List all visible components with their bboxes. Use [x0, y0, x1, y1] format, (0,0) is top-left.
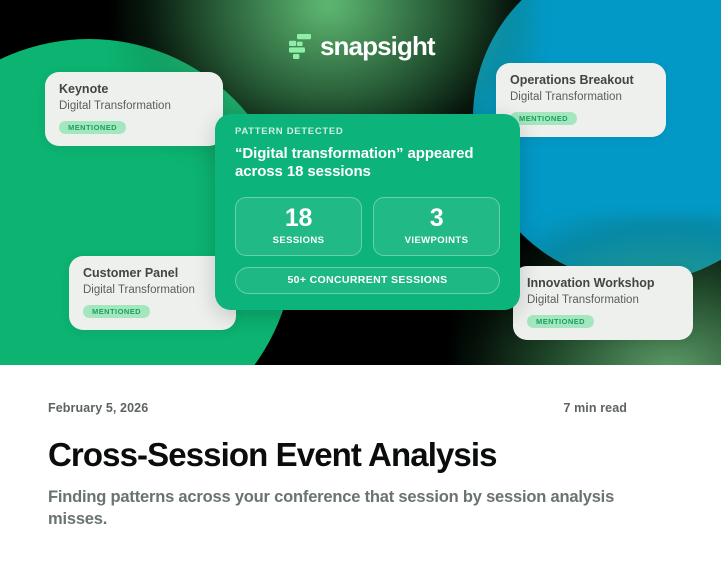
page-title: Cross-Session Event Analysis — [48, 437, 673, 473]
pattern-stats-row: 18 SESSIONS 3 VIEWPOINTS — [235, 197, 500, 256]
pattern-headline: “Digital transformation” appeared across… — [235, 145, 500, 183]
session-card-title: Operations Breakout — [510, 73, 652, 89]
brand-logo[interactable]: snapsight — [289, 33, 435, 59]
hero-banner: snapsight Keynote Digital Transformation… — [0, 0, 721, 365]
pattern-eyebrow-label: PATTERN DETECTED — [235, 127, 500, 137]
article-date: February 5, 2026 — [48, 401, 148, 415]
stat-viewpoints-label: VIEWPOINTS — [374, 236, 499, 246]
article-read-time: 7 min read — [563, 401, 627, 415]
stat-sessions: 18 SESSIONS — [235, 197, 362, 256]
stat-sessions-label: SESSIONS — [236, 236, 361, 246]
article-meta-row: February 5, 2026 7 min read — [48, 365, 627, 415]
article-subtitle: Finding patterns across your conference … — [48, 486, 623, 532]
pattern-detected-card[interactable]: PATTERN DETECTED “Digital transformation… — [215, 114, 520, 310]
session-card-title: Innovation Workshop — [527, 276, 679, 292]
snapsight-blocks-icon — [289, 34, 311, 59]
status-badge: MENTIONED — [83, 305, 150, 319]
session-card-keynote[interactable]: Keynote Digital Transformation MENTIONED — [45, 72, 223, 146]
session-card-operations-breakout[interactable]: Operations Breakout Digital Transformati… — [496, 63, 666, 137]
concurrent-sessions-pill: 50+ CONCURRENT SESSIONS — [235, 267, 500, 295]
session-card-subtitle: Digital Transformation — [527, 293, 679, 308]
stat-viewpoints: 3 VIEWPOINTS — [373, 197, 500, 256]
page-root: snapsight Keynote Digital Transformation… — [0, 0, 721, 585]
session-card-customer-panel[interactable]: Customer Panel Digital Transformation ME… — [69, 256, 236, 330]
article-header: February 5, 2026 7 min read Cross-Sessio… — [0, 365, 721, 585]
status-badge: MENTIONED — [527, 315, 594, 329]
session-card-subtitle: Digital Transformation — [83, 283, 222, 298]
session-card-subtitle: Digital Transformation — [59, 99, 209, 114]
session-card-title: Customer Panel — [83, 266, 222, 282]
status-badge: MENTIONED — [510, 112, 577, 126]
session-card-subtitle: Digital Transformation — [510, 90, 652, 105]
brand-wordmark: snapsight — [320, 33, 435, 59]
status-badge: MENTIONED — [59, 121, 126, 135]
session-card-title: Keynote — [59, 82, 209, 98]
stat-sessions-value: 18 — [236, 206, 361, 231]
stat-viewpoints-value: 3 — [374, 206, 499, 231]
session-card-innovation-workshop[interactable]: Innovation Workshop Digital Transformati… — [513, 266, 693, 340]
